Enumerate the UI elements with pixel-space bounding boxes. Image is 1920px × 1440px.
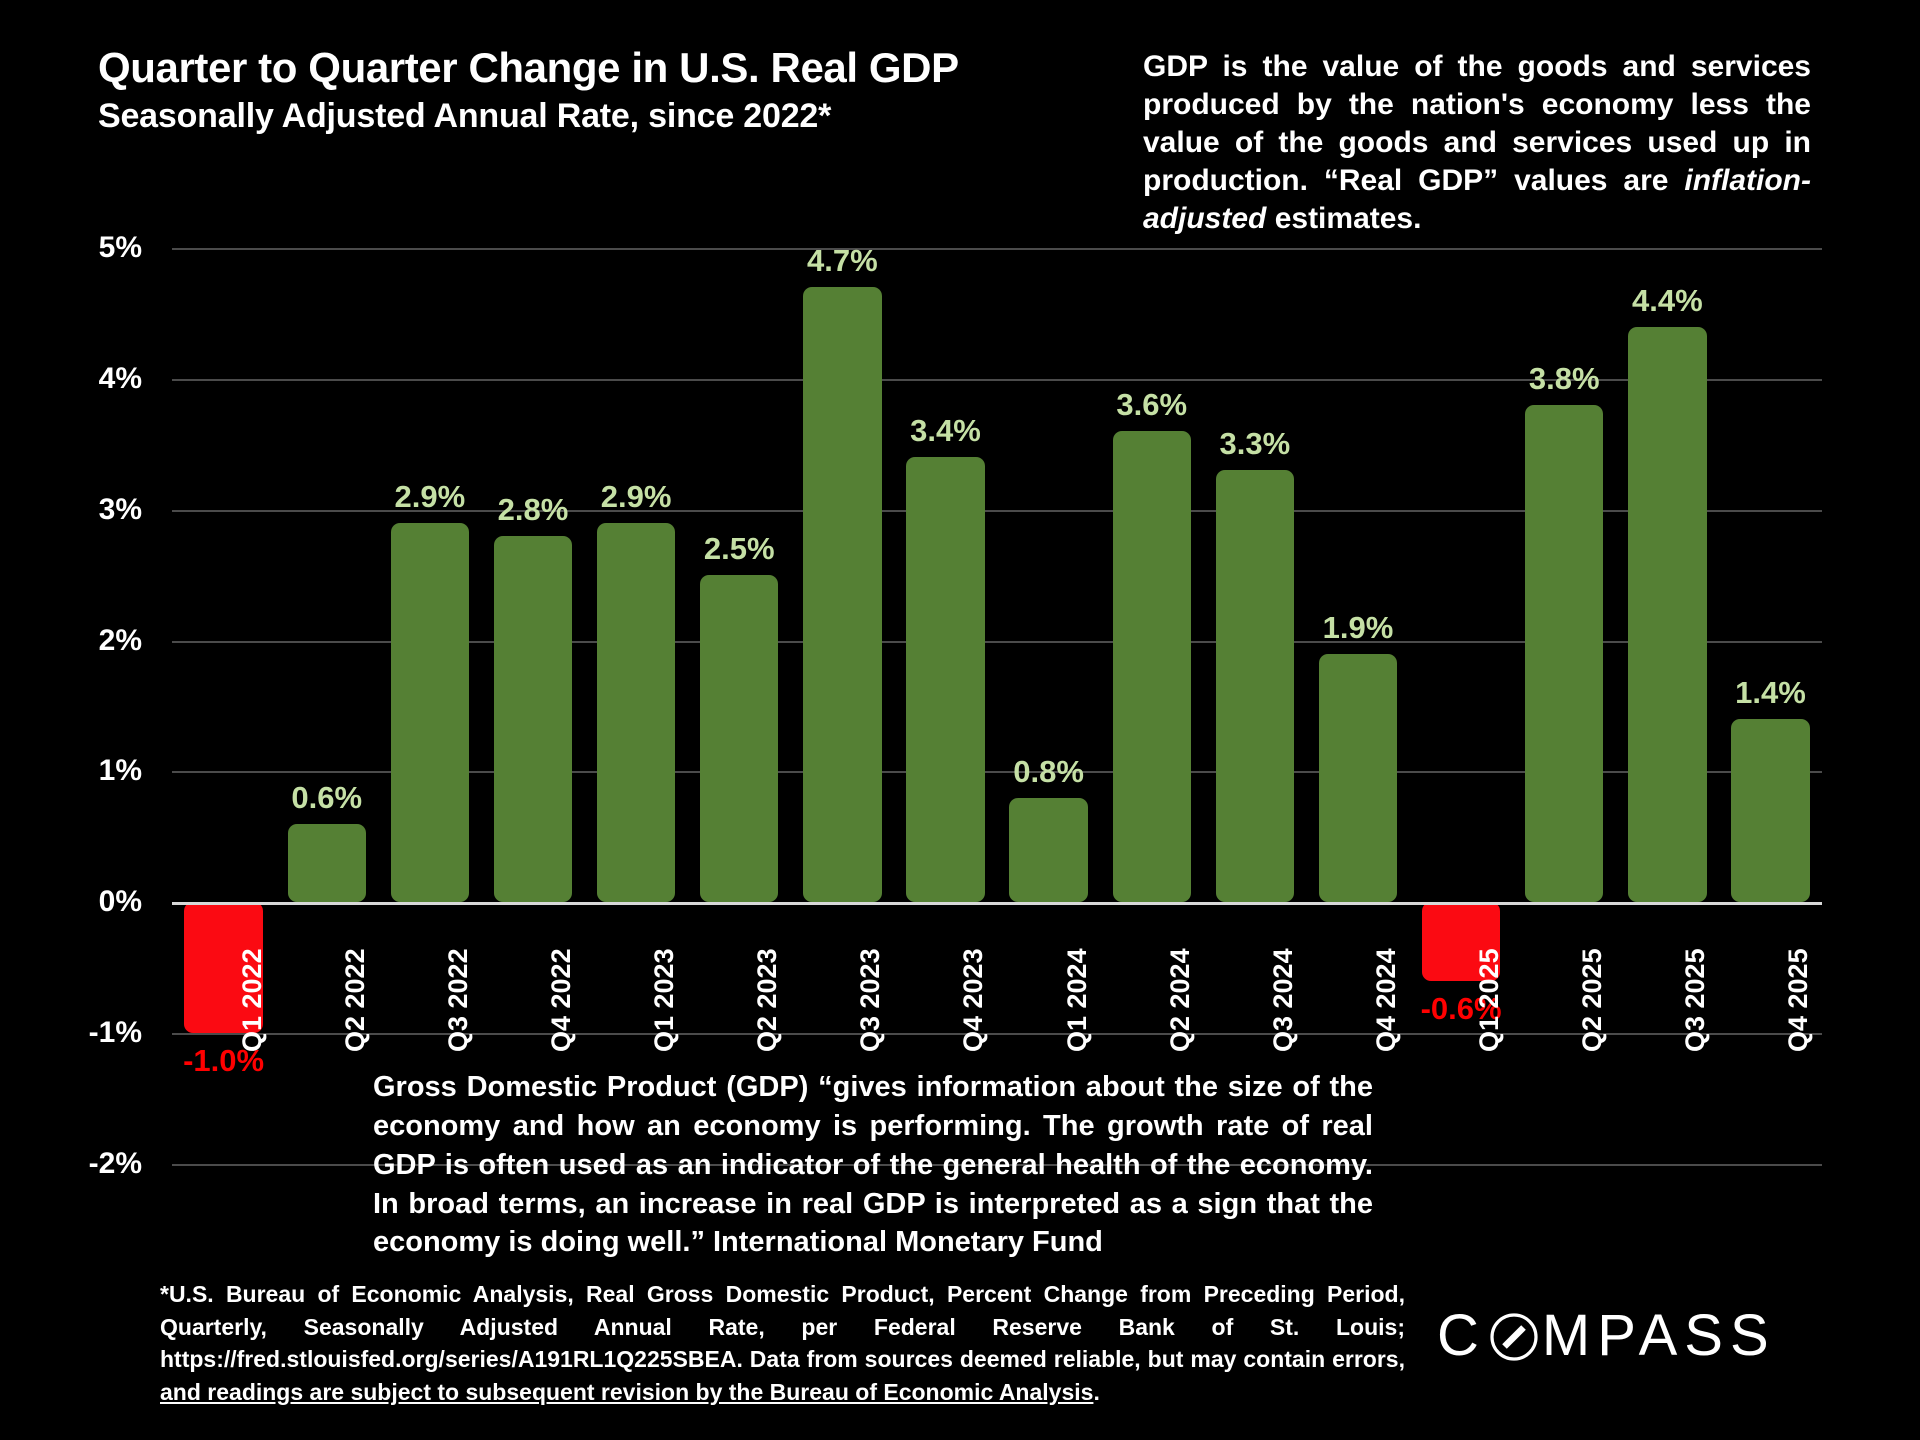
bar[interactable] — [700, 575, 778, 902]
bar-group: 4.4%Q3 2025 — [1616, 248, 1719, 1164]
title-block: Quarter to Quarter Change in U.S. Real G… — [98, 46, 928, 135]
bar-value-label: 3.8% — [1513, 361, 1616, 397]
bar-group: 2.9%Q3 2022 — [378, 248, 481, 1164]
bar-value-label: 2.5% — [688, 531, 791, 567]
source-footnote: *U.S. Bureau of Economic Analysis, Real … — [160, 1278, 1405, 1409]
bar[interactable] — [494, 536, 572, 902]
bar[interactable] — [1009, 798, 1087, 903]
bar-group: 0.6%Q2 2022 — [275, 248, 378, 1164]
y-axis-label: 0% — [22, 885, 142, 919]
definition-part-2: estimates. — [1266, 202, 1421, 235]
logo-text-after: MPASS — [1542, 1303, 1776, 1368]
page-subtitle: Seasonally Adjusted Annual Rate, since 2… — [98, 97, 928, 135]
bar-value-label: 2.8% — [481, 492, 584, 528]
compass-o-slash-icon — [1489, 1312, 1539, 1362]
bar-value-label: 3.4% — [894, 413, 997, 449]
bar-group: 3.6%Q2 2024 — [1100, 248, 1203, 1164]
x-axis-label: Q2 2023 — [752, 949, 783, 1053]
bar-value-label: 1.4% — [1719, 675, 1822, 711]
x-axis-label: Q2 2025 — [1577, 949, 1608, 1053]
bar[interactable] — [1113, 431, 1191, 902]
x-axis-label: Q3 2023 — [855, 949, 886, 1053]
x-axis-label: Q3 2025 — [1680, 949, 1711, 1053]
bar[interactable] — [391, 523, 469, 902]
y-axis-label: 4% — [22, 362, 142, 396]
x-axis-label: Q3 2022 — [443, 949, 474, 1053]
bar-value-label: 3.6% — [1100, 387, 1203, 423]
x-axis-label: Q2 2024 — [1165, 949, 1196, 1053]
bar[interactable] — [1525, 405, 1603, 902]
bar-value-label: 1.9% — [1306, 610, 1409, 646]
bar-group: 3.4%Q4 2023 — [894, 248, 997, 1164]
bar-value-label: 4.4% — [1616, 283, 1719, 319]
x-axis-label: Q1 2022 — [237, 949, 268, 1053]
bar-group: 4.7%Q3 2023 — [791, 248, 894, 1164]
bar-group: 3.8%Q2 2025 — [1513, 248, 1616, 1164]
x-axis-label: Q4 2024 — [1371, 949, 1402, 1053]
y-axis-label: 5% — [22, 231, 142, 265]
y-axis-label: -1% — [22, 1016, 142, 1050]
page-title: Quarter to Quarter Change in U.S. Real G… — [98, 46, 928, 91]
bar-value-label: 0.6% — [275, 780, 378, 816]
bar-group: 2.5%Q2 2023 — [688, 248, 791, 1164]
x-axis-label: Q4 2025 — [1783, 949, 1814, 1053]
footnote-part-2: . — [1093, 1379, 1099, 1405]
bar-group: 1.9%Q4 2024 — [1306, 248, 1409, 1164]
compass-logo: CMPASS — [1437, 1302, 1776, 1369]
bar-value-label: 4.7% — [791, 243, 894, 279]
bar[interactable] — [803, 287, 881, 902]
bar[interactable] — [1216, 470, 1294, 902]
x-axis-label: Q1 2024 — [1062, 949, 1093, 1053]
x-axis-label: Q1 2023 — [649, 949, 680, 1053]
bar-group: 3.3%Q3 2024 — [1203, 248, 1306, 1164]
bar-value-label: 0.8% — [997, 754, 1100, 790]
x-axis-label: Q1 2025 — [1474, 949, 1505, 1053]
logo-text-before: C — [1437, 1303, 1486, 1368]
bar-group: 2.9%Q1 2023 — [585, 248, 688, 1164]
bar-value-label: 3.3% — [1203, 426, 1306, 462]
y-axis-label: 3% — [22, 493, 142, 527]
footnote-underlined-clause: and readings are subject to subsequent r… — [160, 1379, 1093, 1405]
x-axis-label: Q4 2022 — [546, 949, 577, 1053]
bar-group: 0.8%Q1 2024 — [997, 248, 1100, 1164]
footnote-part-1: *U.S. Bureau of Economic Analysis, Real … — [160, 1281, 1405, 1372]
bar[interactable] — [597, 523, 675, 902]
bar-chart-plot: 5%4%3%2%1%0%-1%-2% -1.0%Q1 20220.6%Q2 20… — [172, 248, 1822, 1164]
bar[interactable] — [1319, 654, 1397, 903]
y-axis-label: 1% — [22, 754, 142, 788]
x-axis-label: Q2 2022 — [340, 949, 371, 1053]
bar-value-label: 2.9% — [378, 479, 481, 515]
bar-group: -1.0%Q1 2022 — [172, 248, 275, 1164]
y-axis-label: -2% — [22, 1147, 142, 1181]
bar-group: 2.8%Q4 2022 — [481, 248, 584, 1164]
bar[interactable] — [1731, 719, 1809, 902]
bar[interactable] — [288, 824, 366, 903]
bar-series: -1.0%Q1 20220.6%Q2 20222.9%Q3 20222.8%Q4… — [172, 248, 1822, 1164]
x-axis-label: Q3 2024 — [1268, 949, 1299, 1053]
bar-group: 1.4%Q4 2025 — [1719, 248, 1822, 1164]
logo-wordmark: CMPASS — [1437, 1302, 1776, 1369]
zero-axis-line — [172, 902, 1822, 905]
x-axis-label: Q4 2023 — [958, 949, 989, 1053]
bar[interactable] — [906, 457, 984, 902]
bar[interactable] — [1628, 327, 1706, 903]
bar-group: -0.6%Q1 2025 — [1410, 248, 1513, 1164]
y-axis-label: 2% — [22, 624, 142, 658]
bar-value-label: 2.9% — [585, 479, 688, 515]
gdp-definition-text: GDP is the value of the goods and servic… — [1143, 48, 1811, 238]
imf-quote-text: Gross Domestic Product (GDP) “gives info… — [373, 1068, 1373, 1262]
